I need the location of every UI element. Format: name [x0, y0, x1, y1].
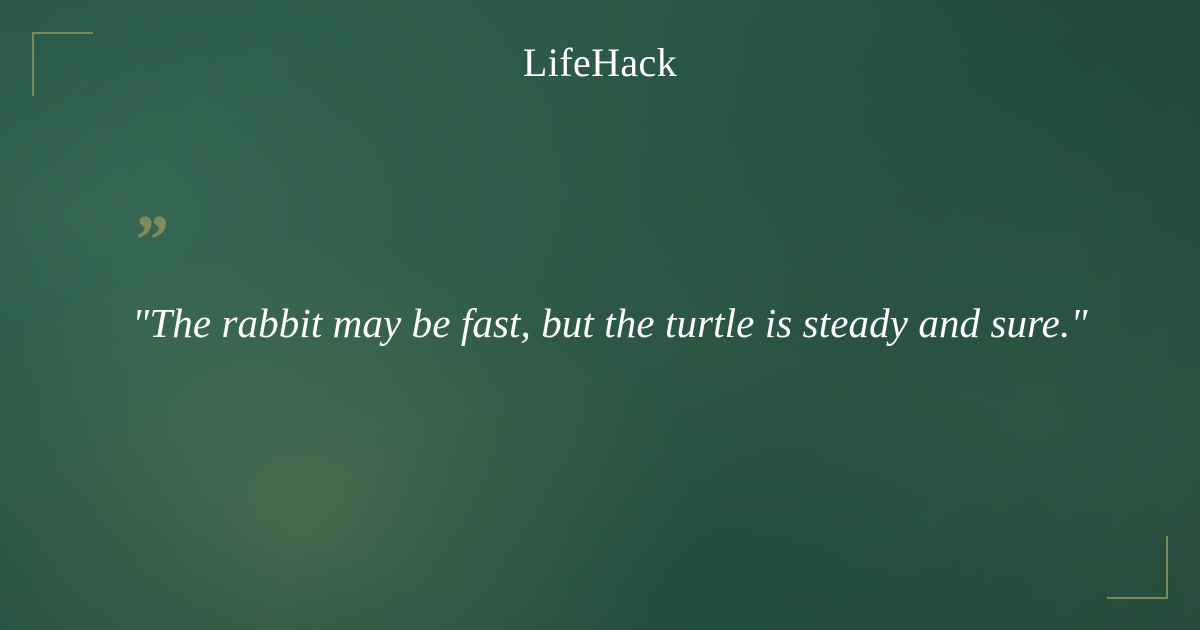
- brand-logo-lifehack: LifeHack: [0, 40, 1200, 86]
- corner-bracket-horizontal-line: [1107, 597, 1168, 599]
- quote-text: "The rabbit may be fast, but the turtle …: [132, 296, 1092, 350]
- corner-bracket-vertical-line: [1166, 536, 1168, 599]
- quote-block: ” "The rabbit may be fast, but the turtl…: [132, 214, 1092, 350]
- corner-bracket-bottom-right-icon: [1107, 536, 1168, 599]
- quote-card: LifeHack ” "The rabbit may be fast, but …: [0, 0, 1200, 630]
- quotation-mark-icon: ”: [132, 214, 1092, 272]
- corner-bracket-horizontal-line: [32, 32, 93, 34]
